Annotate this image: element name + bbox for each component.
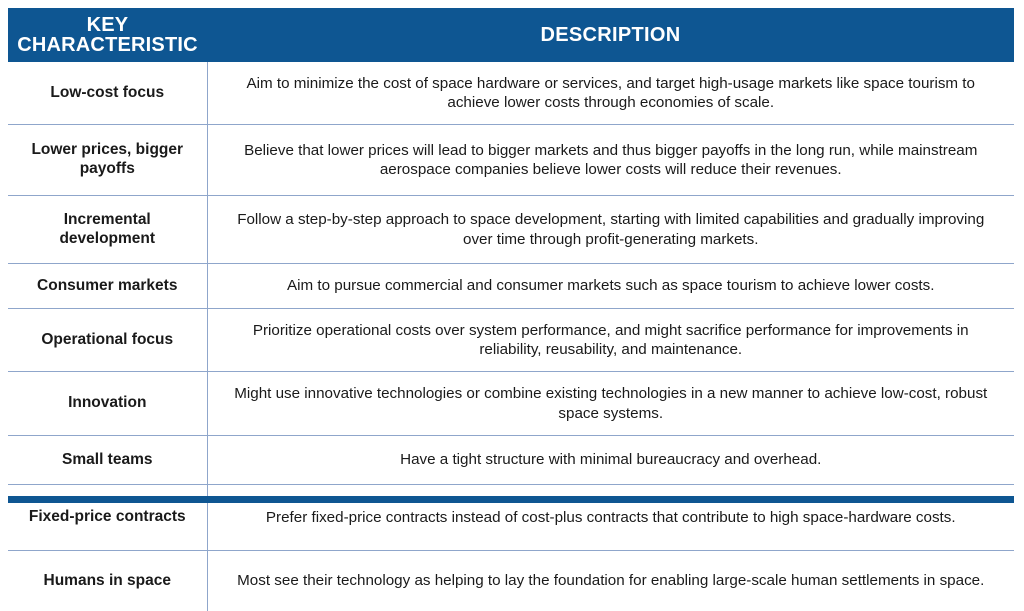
table-body: Low-cost focusAim to minimize the cost o… bbox=[8, 62, 1014, 611]
cell-key-characteristic: Small teams bbox=[8, 436, 207, 485]
table-row: Low-cost focusAim to minimize the cost o… bbox=[8, 62, 1014, 125]
table-row: Operational focusPrioritize operational … bbox=[8, 309, 1014, 372]
table-row: Fixed-price contractsPrefer fixed-price … bbox=[8, 485, 1014, 551]
cell-key-characteristic: Low-cost focus bbox=[8, 62, 207, 125]
table-header: KEY CHARACTERISTIC DESCRIPTION bbox=[8, 8, 1014, 62]
key-characteristics-table-container: KEY CHARACTERISTIC DESCRIPTION Low-cost … bbox=[8, 8, 1014, 503]
cell-description: Follow a step-by-step approach to space … bbox=[207, 196, 1014, 264]
cell-description: Prefer fixed-price contracts instead of … bbox=[207, 485, 1014, 551]
column-header-description: DESCRIPTION bbox=[207, 8, 1014, 62]
cell-key-characteristic: Consumer markets bbox=[8, 264, 207, 309]
cell-key-characteristic: Incremental development bbox=[8, 196, 207, 264]
table-row: Consumer marketsAim to pursue commercial… bbox=[8, 264, 1014, 309]
key-characteristics-table: KEY CHARACTERISTIC DESCRIPTION Low-cost … bbox=[8, 8, 1014, 611]
cell-description: Have a tight structure with minimal bure… bbox=[207, 436, 1014, 485]
table-row: Lower prices, bigger payoffsBelieve that… bbox=[8, 125, 1014, 196]
cell-description: Might use innovative technologies or com… bbox=[207, 372, 1014, 436]
cell-key-characteristic: Humans in space bbox=[8, 551, 207, 611]
cell-key-characteristic: Innovation bbox=[8, 372, 207, 436]
table-row: Incremental developmentFollow a step-by-… bbox=[8, 196, 1014, 264]
table-row: Humans in spaceMost see their technology… bbox=[8, 551, 1014, 611]
cell-description: Aim to pursue commercial and consumer ma… bbox=[207, 264, 1014, 309]
cell-description: Aim to minimize the cost of space hardwa… bbox=[207, 62, 1014, 125]
column-header-key-characteristic-line2: CHARACTERISTIC bbox=[17, 34, 198, 56]
column-header-key-characteristic: KEY CHARACTERISTIC bbox=[8, 8, 207, 62]
cell-description: Most see their technology as helping to … bbox=[207, 551, 1014, 611]
cell-description: Believe that lower prices will lead to b… bbox=[207, 125, 1014, 196]
table-row: Small teamsHave a tight structure with m… bbox=[8, 436, 1014, 485]
table-header-row: KEY CHARACTERISTIC DESCRIPTION bbox=[8, 8, 1014, 62]
table-row: InnovationMight use innovative technolog… bbox=[8, 372, 1014, 436]
cell-key-characteristic: Operational focus bbox=[8, 309, 207, 372]
table-bottom-rule bbox=[8, 496, 1014, 503]
cell-description: Prioritize operational costs over system… bbox=[207, 309, 1014, 372]
cell-key-characteristic: Lower prices, bigger payoffs bbox=[8, 125, 207, 196]
column-header-key-characteristic-line1: KEY bbox=[87, 14, 129, 36]
cell-key-characteristic: Fixed-price contracts bbox=[8, 485, 207, 551]
